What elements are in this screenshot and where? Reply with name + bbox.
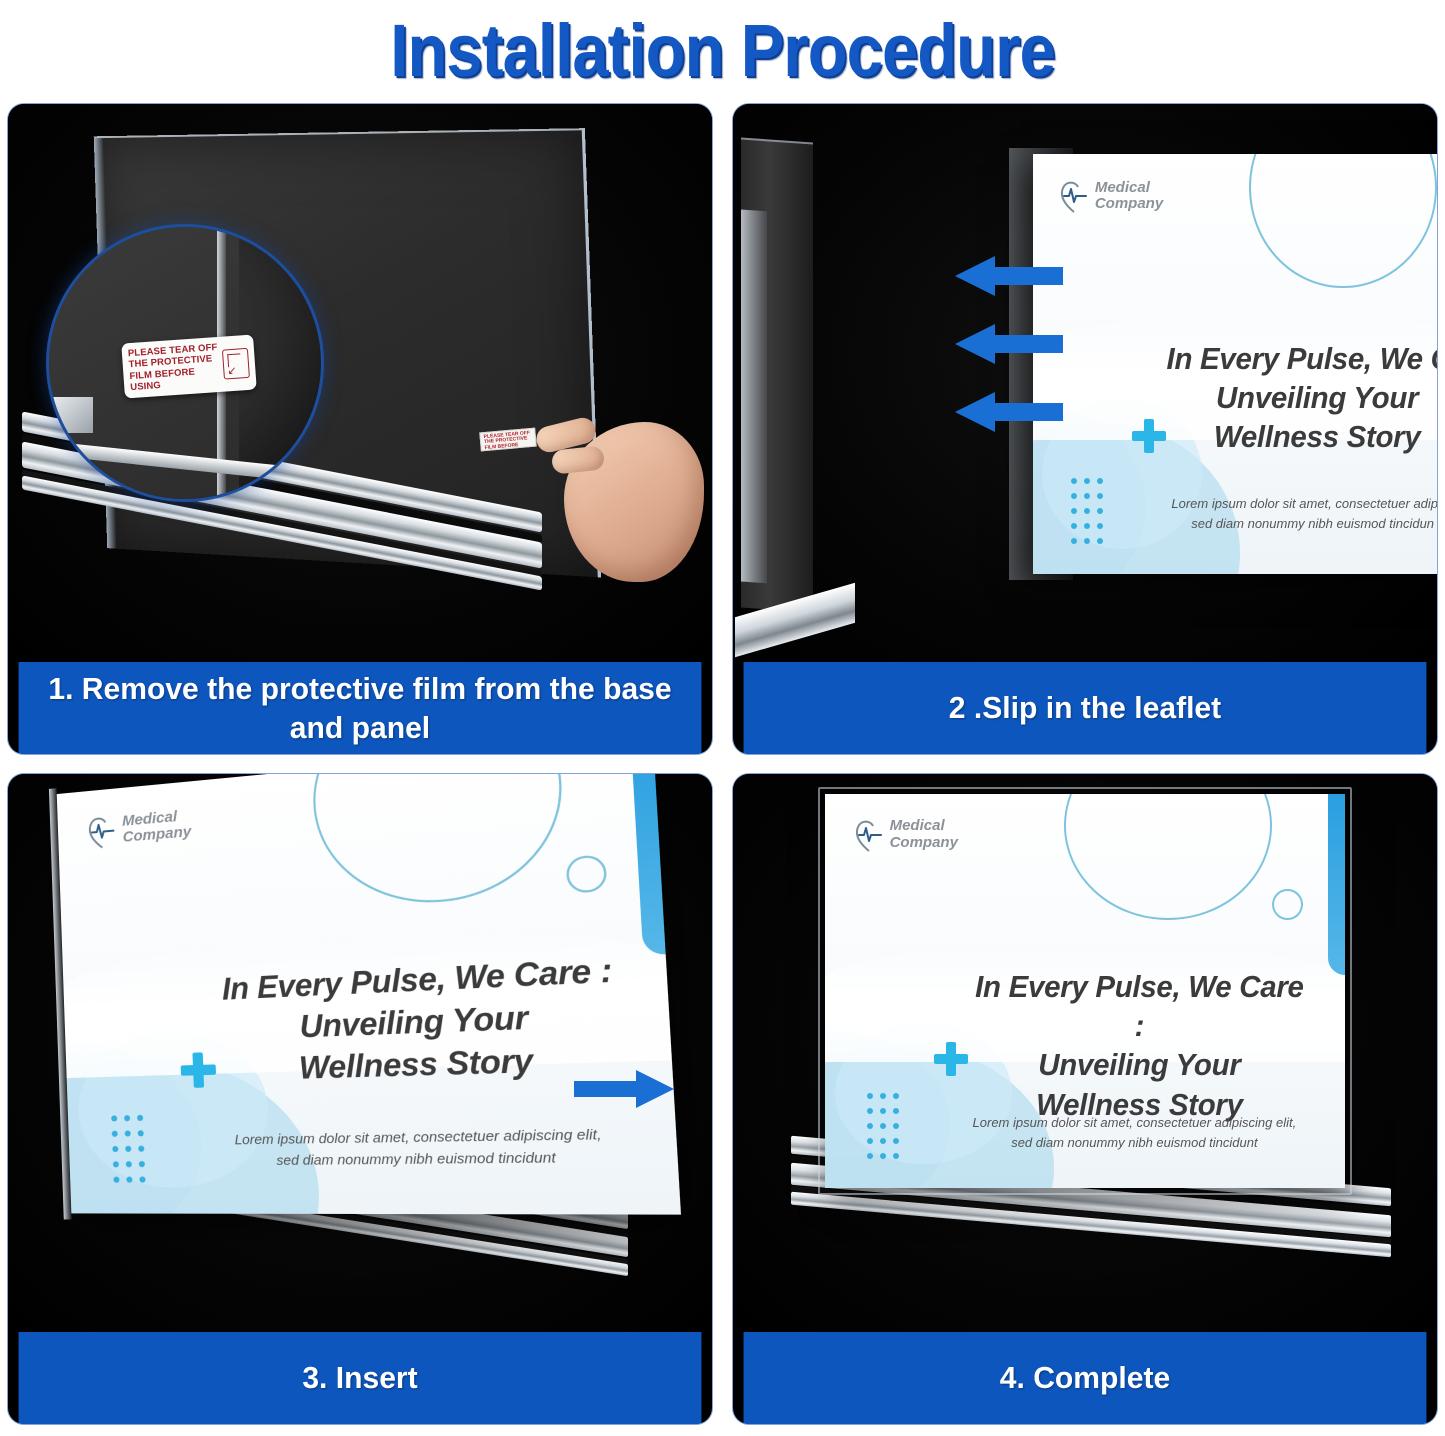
plus-icon (180, 1052, 216, 1088)
step-panel-2: Medical Company In Every Pulse, We Ca Un… (733, 104, 1437, 754)
peel-corner-icon (222, 347, 250, 379)
step-2-image: Medical Company In Every Pulse, We Ca Un… (733, 104, 1437, 662)
pulse-teardrop-icon (1059, 179, 1089, 213)
step-panel-4: Medical Company In Every Pulse, We Care … (733, 774, 1437, 1424)
warning-label-text: PLEASE TEAR OFF THE PROTECTIVE FILM BEFO… (128, 342, 225, 393)
hand-peeling-film: PLEASE TEAR OFF THE PROTECTIVE FILM BEFO… (529, 392, 704, 592)
leaflet-body-text: Lorem ipsum dolor sit amet, consectetuer… (200, 1123, 644, 1171)
step-3-image: Medical Company In Every Pulse, We Care … (8, 774, 712, 1332)
insert-direction-arrows (955, 256, 1063, 432)
step-2-caption: 2 .Slip in the leaflet (744, 662, 1427, 754)
completed-display-stand: Medical Company In Every Pulse, We Care … (825, 794, 1345, 1188)
leaflet-headline: In Every Pulse, We Care : Unveiling Your… (969, 967, 1310, 1123)
arrow-left-icon (955, 324, 1063, 364)
plus-icon (1132, 419, 1166, 453)
dot-grid (1071, 478, 1110, 553)
page-header: Installation Procedure (0, 0, 1445, 100)
step-4-image: Medical Company In Every Pulse, We Care … (733, 774, 1437, 1332)
dot-grid (867, 1093, 906, 1168)
arrow-right-icon (574, 1070, 674, 1108)
pulse-teardrop-icon (87, 814, 118, 850)
step-1-caption: 1. Remove the protective film from the b… (19, 662, 702, 754)
pulse-teardrop-icon (854, 818, 884, 852)
leaflet-headline: In Every Pulse, We Ca Unveiling Your Wel… (1163, 339, 1437, 456)
leaflet-body-text: Lorem ipsum dolor sit amet, consectetuer… (950, 1113, 1319, 1152)
page-title: Installation Procedure (390, 8, 1055, 93)
leaflet-sliding-in: Medical Company In Every Pulse, We Ca Un… (1033, 154, 1437, 574)
arrow-left-icon (955, 392, 1063, 432)
step-panel-3: Medical Company In Every Pulse, We Care … (8, 774, 712, 1424)
medical-company-logo: Medical Company (87, 807, 192, 850)
leaflet-headline: In Every Pulse, We Care : Unveiling Your… (215, 947, 627, 1090)
logo-text: Medical Company (122, 808, 192, 846)
logo-text: Medical Company (890, 818, 958, 850)
film-tab-label: PLEASE TEAR OFF THE PROTECTIVE FILM BEFO… (479, 428, 536, 452)
step-panel-1: PLEASE TEAR OFF THE PROTECTIVE FILM BEFO… (8, 104, 712, 754)
medical-company-logo: Medical Company (854, 818, 958, 852)
magnifier-circle-callout: PLEASE TEAR OFF THE PROTECTIVE FILM BEFO… (46, 224, 324, 502)
acrylic-panel-edge (741, 137, 813, 612)
dot-grid (111, 1115, 153, 1192)
warning-label: PLEASE TEAR OFF THE PROTECTIVE FILM BEFO… (121, 334, 257, 398)
plus-icon (934, 1042, 968, 1076)
arrow-left-icon (955, 256, 1063, 296)
step-1-image: PLEASE TEAR OFF THE PROTECTIVE FILM BEFO… (8, 104, 712, 662)
logo-text: Medical Company (1095, 180, 1163, 212)
steps-grid: PLEASE TEAR OFF THE PROTECTIVE FILM BEFO… (8, 104, 1437, 1432)
medical-company-logo: Medical Company (1059, 179, 1163, 213)
step-4-caption: 4. Complete (744, 1332, 1427, 1424)
leaflet-in-holder: Medical Company In Every Pulse, We Care … (57, 774, 681, 1215)
leaflet-body-text: Lorem ipsum dolor sit amet, consectetuer… (1146, 494, 1437, 533)
step-3-caption: 3. Insert (19, 1332, 702, 1424)
